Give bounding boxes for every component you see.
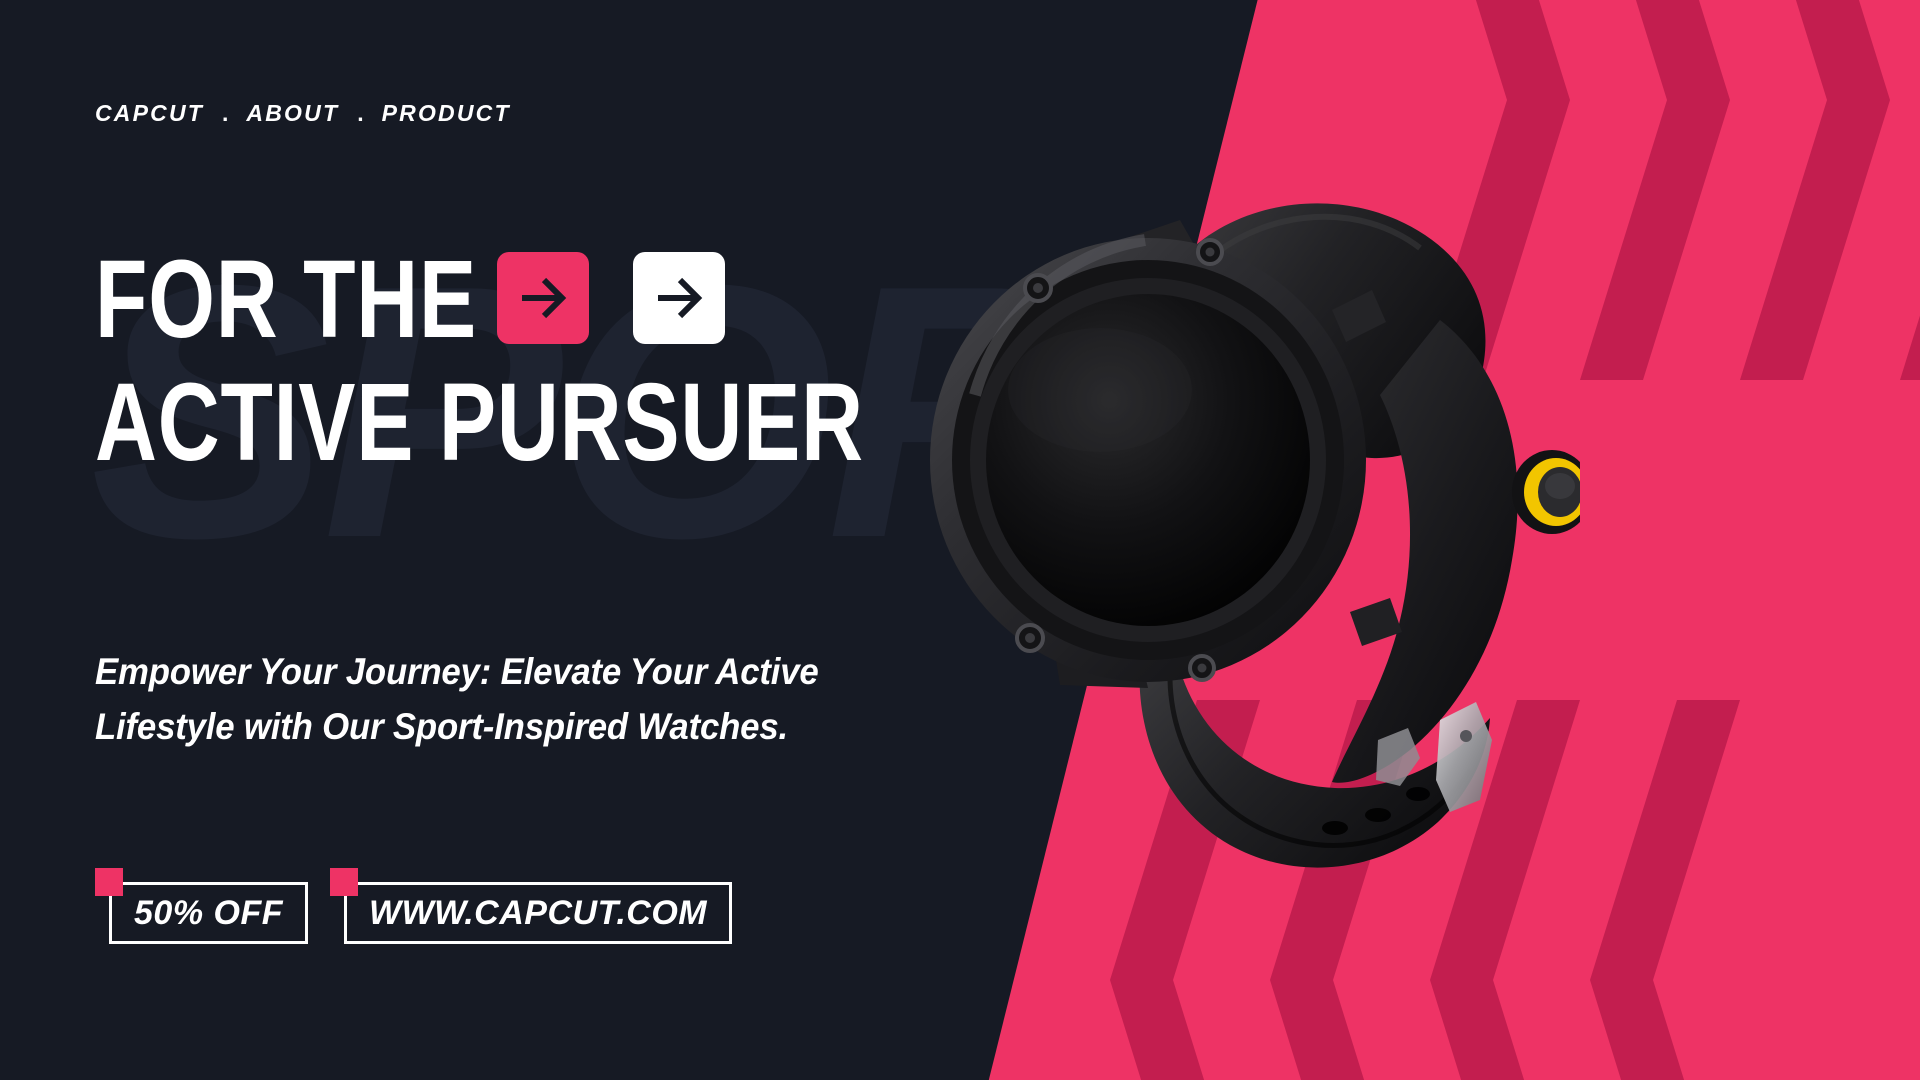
nav-separator: . [357,100,363,127]
subheading-line-1: Empower Your Journey: Elevate Your Activ… [95,645,809,700]
promo-banner: SPORT CAPCUT . ABOUT . PRODUCT FOR THE [0,0,1920,1080]
buckle-pin [1460,730,1472,742]
headline-line-1: FOR THE [95,248,477,353]
website-badge[interactable]: WWW.CAPCUT.COM [330,868,732,944]
strap-hole [1365,808,1391,822]
headline-row-1: FOR THE [95,248,1081,353]
discount-badge-box: 50% OFF [109,882,308,944]
website-badge-label: WWW.CAPCUT.COM [369,894,707,933]
subheading-block: Empower Your Journey: Elevate Your Activ… [95,645,855,755]
badge-corner-square [95,868,123,896]
headline-block: FOR THE ACTIVE PURSUER [95,248,1081,475]
discount-badge-label: 50% OFF [134,894,283,933]
primary-arrow-button[interactable] [497,252,589,344]
nav-item-capcut[interactable]: CAPCUT [95,100,204,127]
secondary-arrow-button[interactable] [633,252,725,344]
badge-row: 50% OFF WWW.CAPCUT.COM [95,868,732,944]
nav-item-about[interactable]: ABOUT [246,100,339,127]
strap-hole [1322,821,1348,835]
headline-line-2: ACTIVE PURSUER [95,371,864,476]
watch-crown-button[interactable] [1512,450,1580,534]
website-badge-box: WWW.CAPCUT.COM [344,882,732,944]
discount-badge[interactable]: 50% OFF [95,868,308,944]
nav-separator: . [222,100,228,127]
watch-pusher[interactable] [1350,598,1402,646]
arrow-right-icon [653,272,705,324]
subheading-line-2: Lifestyle with Our Sport-Inspired Watche… [95,700,809,755]
chevron-icon [1580,0,1730,380]
badge-corner-square [330,868,358,896]
watch-buckle [1436,702,1492,812]
chevron-icon [1900,0,1920,380]
arrow-button-group [497,252,725,344]
arrow-right-icon [517,272,569,324]
top-navigation: CAPCUT . ABOUT . PRODUCT [95,100,511,127]
chevron-icon [1590,700,1740,1080]
chevron-icon [1740,0,1890,380]
nav-item-product[interactable]: PRODUCT [382,100,511,127]
strap-hole [1406,787,1430,801]
